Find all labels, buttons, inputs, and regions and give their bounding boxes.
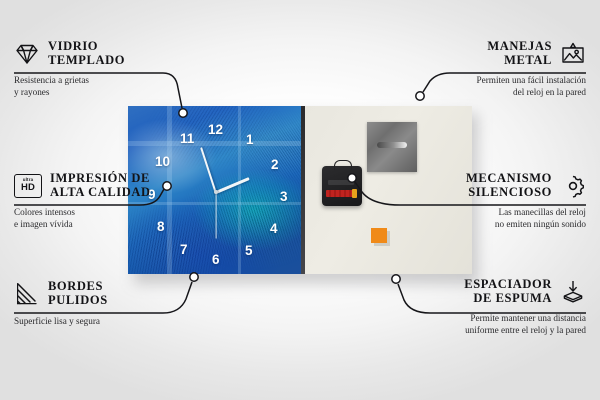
- callout-bordes-pulidos: BORDES PULIDOS Superficie lisa y segura: [14, 280, 164, 328]
- foam-spacer-icon: [560, 279, 586, 305]
- ultra-hd-icon: ultra HD: [14, 174, 42, 198]
- callout-description: Permite mantener una distancia uniforme …: [436, 313, 586, 337]
- callout-title: ESPACIADOR DE ESPUMA: [464, 278, 552, 305]
- callout-description: Permiten una fácil instalación del reloj…: [436, 75, 586, 99]
- callout-title: VIDRIO TEMPLADO: [48, 40, 125, 67]
- callout-description: Superficie lisa y segura: [14, 316, 164, 328]
- infographic-canvas: 12 1 2 3 4 5 6 7 8 9 10 11: [0, 0, 600, 400]
- callout-title: MANEJAS METAL: [487, 40, 552, 67]
- connector-dot-manejas: [416, 92, 424, 100]
- callout-description: Las manecillas del reloj no emiten ningú…: [436, 207, 586, 231]
- connector-dot-bordes: [190, 273, 198, 281]
- connector-dot-vidrio: [179, 109, 187, 117]
- callout-description: Colores intensos e imagen vívida: [14, 207, 164, 231]
- connector-dot-mecanismo: [348, 174, 356, 182]
- diamond-icon: [14, 41, 40, 67]
- picture-frame-icon: [560, 41, 586, 67]
- callout-mecanismo-silencioso: MECANISMO SILENCIOSO Las manecillas del …: [436, 172, 586, 231]
- callout-espaciador-espuma: ESPACIADOR DE ESPUMA Permite mantener un…: [436, 278, 586, 337]
- connector-dot-espaciador: [392, 275, 400, 283]
- callout-title: BORDES PULIDOS: [48, 280, 108, 307]
- polished-edge-icon: [14, 281, 40, 307]
- callout-title: IMPRESIÓN DE ALTA CALIDAD: [50, 172, 151, 199]
- callout-impresion-alta-calidad: ultra HD IMPRESIÓN DE ALTA CALIDAD Color…: [14, 172, 164, 231]
- gear-icon: [560, 173, 586, 199]
- callout-title: MECANISMO SILENCIOSO: [466, 172, 552, 199]
- callout-vidrio-templado: VIDRIO TEMPLADO Resistencia a grietas y …: [14, 40, 154, 99]
- callout-description: Resistencia a grietas y rayones: [14, 75, 154, 99]
- callout-manejas-metal: MANEJAS METAL Permiten una fácil instala…: [436, 40, 586, 99]
- ultra-hd-main-label: HD: [21, 183, 35, 193]
- connector-dot-impresion: [163, 182, 171, 190]
